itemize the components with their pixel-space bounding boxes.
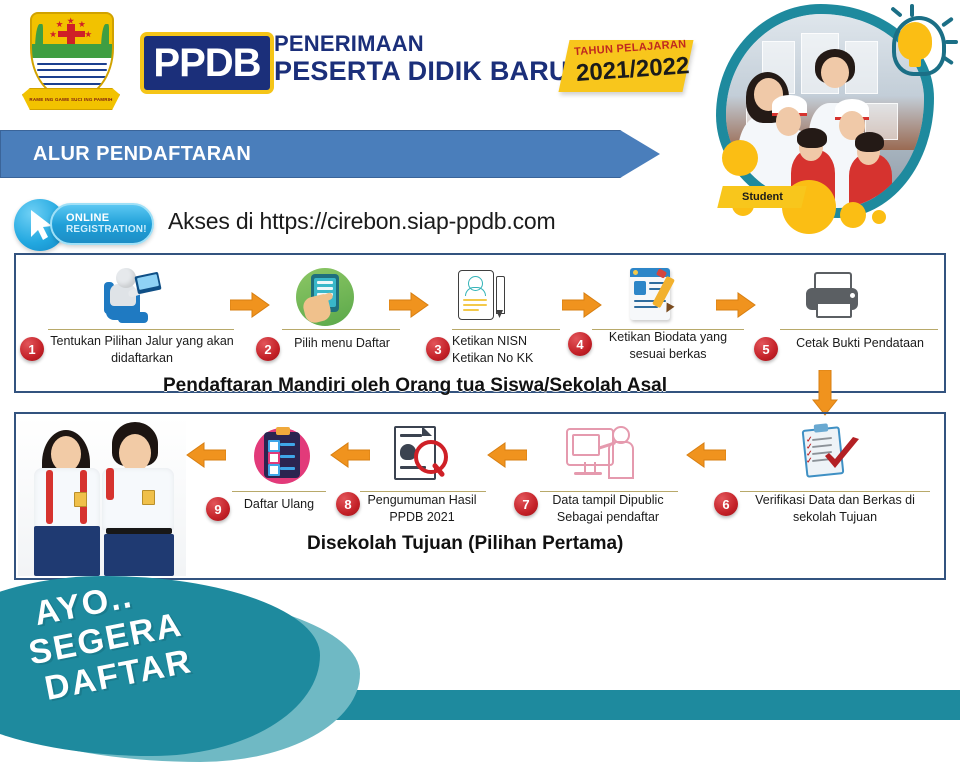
step-3-rule bbox=[452, 329, 560, 330]
printer-icon bbox=[790, 266, 876, 328]
step-6-number-badge: 6 bbox=[714, 492, 738, 516]
step-4-number-badge: 4 bbox=[568, 332, 592, 356]
step-5-rule bbox=[780, 329, 938, 330]
flow-caption-bottom: Disekolah Tujuan (Pilihan Pertama) bbox=[307, 533, 623, 555]
checklist-icon bbox=[240, 426, 326, 488]
flow-caption-top: Pendaftaran Mandiri oleh Orang tua Siswa… bbox=[163, 375, 667, 397]
step-5-number: 5 bbox=[762, 343, 769, 356]
section-banner-alur-pendaftaran: ALUR PENDAFTARAN bbox=[0, 130, 662, 178]
arrow-left-icon-3 bbox=[487, 442, 527, 468]
step-3-label: Ketikan NISN Ketikan No KK bbox=[452, 333, 560, 366]
person-laptop-icon bbox=[94, 266, 180, 328]
step-2-label: Pilih menu Daftar bbox=[282, 335, 402, 352]
arrow-right-icon-4 bbox=[716, 292, 756, 318]
step-3-number-badge: 3 bbox=[426, 337, 450, 361]
arrow-left-icon-2 bbox=[330, 442, 370, 468]
step-6-number: 6 bbox=[722, 498, 729, 511]
crest-motto-text: RAME ING GAWE SUCI ING PAMRIH bbox=[29, 97, 112, 102]
crest-shield bbox=[30, 12, 114, 100]
step-5-number-badge: 5 bbox=[754, 337, 778, 361]
cirebon-crest-logo: RAME ING GAWE SUCI ING PAMRIH bbox=[22, 8, 118, 112]
step-9-number-badge: 9 bbox=[206, 497, 230, 521]
crest-motto-ribbon: RAME ING GAWE SUCI ING PAMRIH bbox=[22, 88, 120, 110]
biodata-pencil-icon bbox=[612, 266, 698, 328]
arrow-right-icon-2 bbox=[389, 292, 429, 318]
document-search-icon bbox=[378, 424, 464, 486]
step-9-label: Daftar Ulang bbox=[230, 496, 328, 513]
section-banner-title: ALUR PENDAFTARAN bbox=[33, 143, 251, 166]
student-tag-text: Student bbox=[742, 191, 783, 203]
step-1-label: Tentukan Pilihan Jalur yang akan didafta… bbox=[48, 333, 236, 366]
arrow-left-icon-1 bbox=[186, 442, 226, 468]
step-4-number: 4 bbox=[576, 338, 583, 351]
student-photo-tag: Student bbox=[717, 186, 806, 208]
step-1-rule bbox=[48, 329, 234, 330]
step-9-number: 9 bbox=[214, 503, 221, 516]
infographic-page: RAME ING GAWE SUCI ING PAMRIH PPDB PENER… bbox=[0, 0, 960, 720]
step-1-number: 1 bbox=[28, 343, 35, 356]
access-url-text: Akses di https://cirebon.siap-ppdb.com bbox=[168, 208, 555, 235]
step-2-rule bbox=[282, 329, 400, 330]
ppdb-logo-badge: PPDB bbox=[140, 32, 274, 94]
monitor-person-icon bbox=[560, 424, 646, 486]
tablet-hand-icon bbox=[284, 266, 370, 328]
step-3-number: 3 bbox=[434, 343, 441, 356]
arrow-left-icon-4 bbox=[686, 442, 726, 468]
student-photo-blob: Student bbox=[716, 4, 948, 226]
step-2-number-badge: 2 bbox=[256, 337, 280, 361]
two-students-photo bbox=[18, 416, 186, 576]
clipboard-check-icon: ✓ ✓ ✓ ✓ bbox=[786, 424, 872, 486]
lightbulb-icon bbox=[884, 14, 946, 76]
step-8-label: Pengumuman Hasil PPDB 2021 bbox=[358, 492, 486, 525]
step-7-number-badge: 7 bbox=[514, 492, 538, 516]
online-badge-line1: ONLINE bbox=[66, 213, 152, 225]
step-8-number-badge: 8 bbox=[336, 492, 360, 516]
arrow-right-icon-3 bbox=[562, 292, 602, 318]
step-2-number: 2 bbox=[264, 343, 271, 356]
step-9-rule bbox=[232, 491, 326, 492]
header-title-line1: PENERIMAAN bbox=[274, 33, 424, 55]
online-registration-badge: ONLINE REGISTRATION! bbox=[50, 203, 154, 245]
step-8-number: 8 bbox=[344, 498, 351, 511]
step-6-label: Verifikasi Data dan Berkas di sekolah Tu… bbox=[738, 492, 932, 525]
ppdb-logo-text: PPDB bbox=[153, 43, 260, 83]
arrow-down-icon bbox=[812, 370, 838, 416]
step-5-label: Cetak Bukti Pendataan bbox=[780, 335, 940, 352]
step-7-label: Data tampil Dipublic Sebagai pendaftar bbox=[538, 492, 678, 525]
form-pen-icon bbox=[436, 266, 522, 328]
step-7-number: 7 bbox=[522, 498, 529, 511]
step-1-number-badge: 1 bbox=[20, 337, 44, 361]
online-badge-line2: REGISTRATION! bbox=[66, 225, 152, 236]
header-title-line2: PESERTA DIDIK BARU bbox=[274, 58, 569, 85]
step-4-label: Ketikan Biodata yang sesuai berkas bbox=[592, 329, 744, 362]
arrow-right-icon-1 bbox=[230, 292, 270, 318]
